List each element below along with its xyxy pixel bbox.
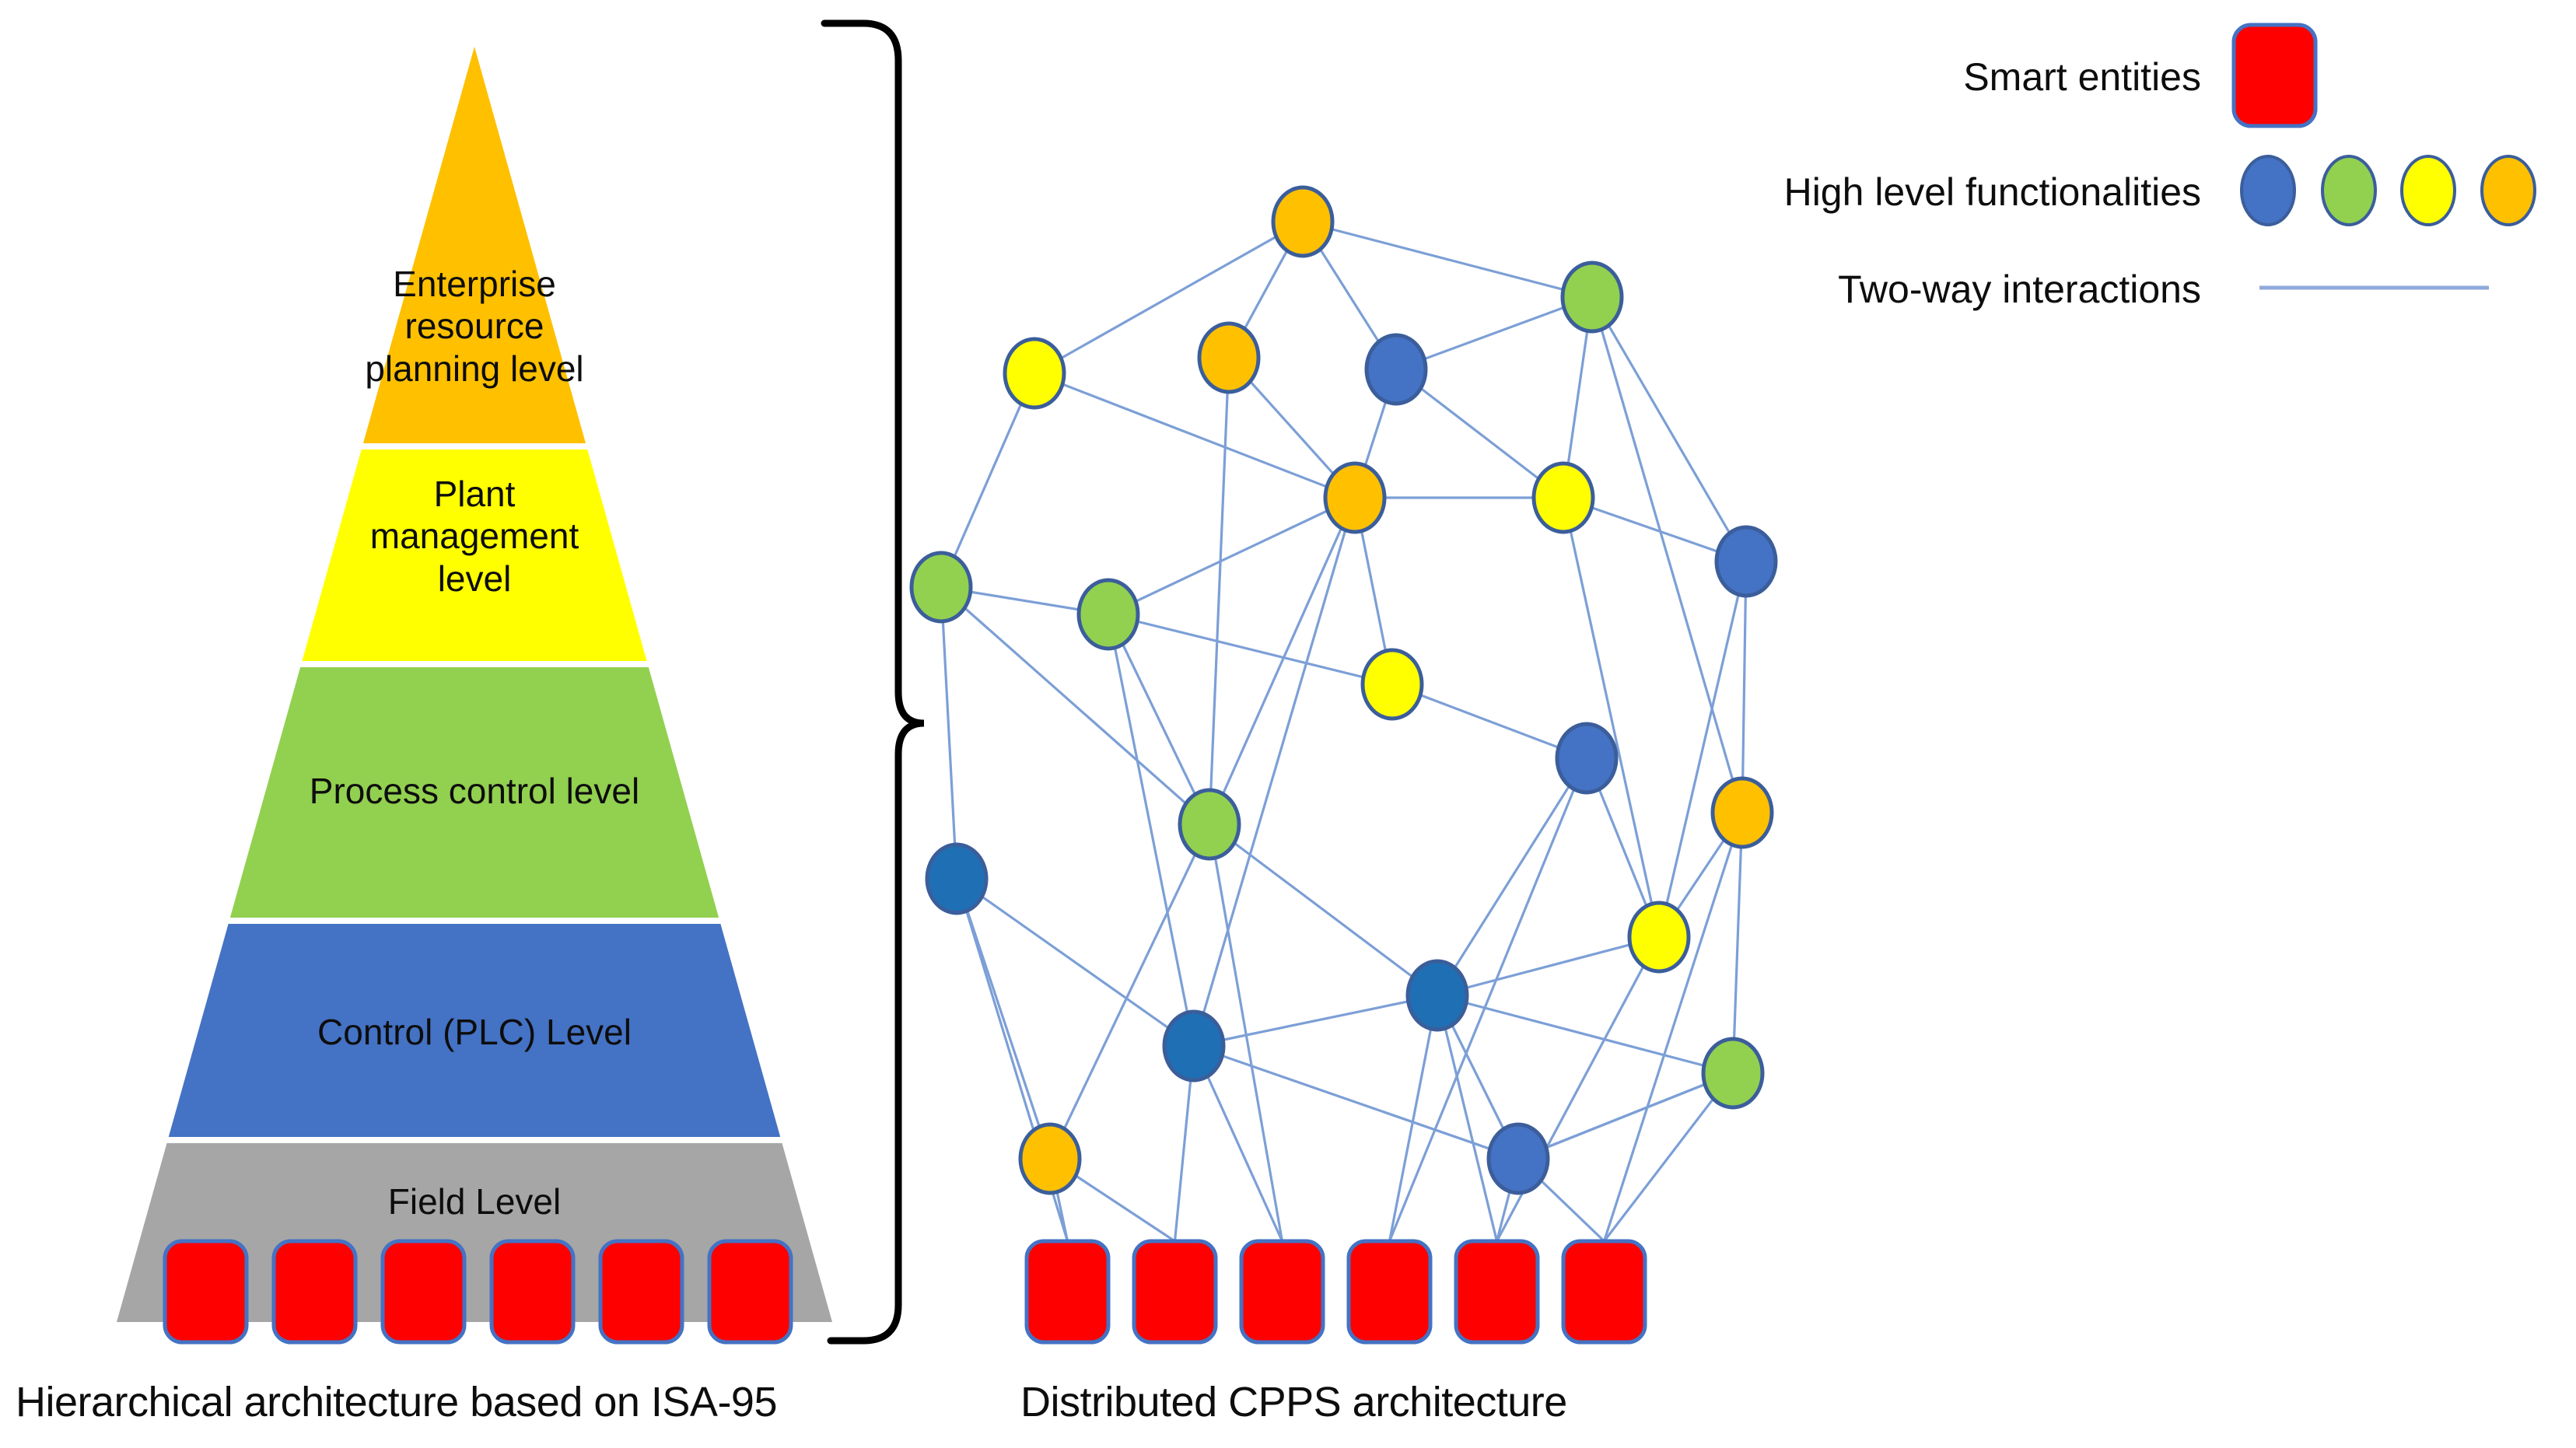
pyramid-label-process-control: Process control level (288, 770, 661, 812)
network-node (1020, 1124, 1080, 1193)
cpps-smart-entity (1456, 1241, 1538, 1342)
scope-brace (824, 23, 924, 1341)
pyramid-label-field: Field Level (342, 1180, 607, 1222)
network-edge (1742, 561, 1746, 813)
field-entity (165, 1241, 247, 1342)
network-node (1199, 324, 1258, 392)
network-edge (1194, 498, 1355, 1046)
network-node (912, 553, 971, 621)
network-node (1629, 903, 1689, 971)
network-edge (1592, 297, 1746, 561)
legend-marks (2234, 25, 2535, 288)
network-edge (1733, 813, 1742, 1073)
network-node (1713, 778, 1772, 847)
network-node (1363, 650, 1422, 719)
network-node (1703, 1039, 1762, 1107)
legend-functionality-swatch-orange (2482, 156, 2535, 225)
network-edge (1194, 995, 1437, 1046)
field-entity (274, 1241, 355, 1342)
legend-smart-entity-swatch (2234, 25, 2315, 126)
network-node (1367, 335, 1426, 404)
network-node (1005, 339, 1064, 407)
network-edge (1437, 758, 1587, 995)
network-edge (1303, 222, 1592, 297)
network-node (1408, 961, 1467, 1030)
network-node (1557, 724, 1616, 792)
cpps-smart-entity (1241, 1241, 1323, 1342)
legend-functionality-swatch-yellow (2402, 156, 2455, 225)
network-edge (1437, 995, 1733, 1073)
network-node (1164, 1012, 1223, 1080)
cpps-smart-entity (1027, 1241, 1108, 1342)
cpps-smart-entities (1027, 1241, 1645, 1342)
network-edge (1209, 824, 1437, 995)
network-node (1325, 463, 1384, 532)
right-caption: Distributed CPPS architecture (1020, 1378, 1567, 1426)
cpps-smart-entity (1134, 1241, 1216, 1342)
pyramid-label-plant-management: Plant management level (342, 473, 607, 600)
network-edge (1497, 937, 1660, 1241)
field-entity (383, 1241, 464, 1342)
cpps-smart-entity (1563, 1241, 1645, 1342)
network-edge (1659, 561, 1746, 937)
legend-label-high-level-functionalities: High level functionalities (1587, 170, 2201, 215)
network-nodes (912, 187, 1776, 1193)
network-edge (941, 587, 1209, 824)
figure-canvas: Enterprise resource planning level Plant… (0, 0, 2576, 1448)
pyramid-label-erp: Enterprise resource planning level (342, 263, 607, 390)
field-entity (600, 1241, 682, 1342)
diagram-svg (0, 0, 2576, 1448)
legend-functionality-swatch-blue (2242, 156, 2294, 225)
legend-label-smart-entities: Smart entities (1587, 54, 2201, 100)
network-edge (1437, 937, 1659, 995)
legend-label-two-way-interactions: Two-way interactions (1587, 267, 2201, 312)
network-node (1180, 790, 1239, 859)
pyramid-bands (78, 0, 879, 1330)
network-node (1273, 187, 1332, 256)
network-node (1717, 527, 1776, 596)
legend-functionality-swatch-green (2322, 156, 2375, 225)
network-edge (1034, 373, 1355, 498)
network-edge (1563, 498, 1659, 937)
field-entity (492, 1241, 573, 1342)
cpps-smart-entity (1349, 1241, 1430, 1342)
network-edge (957, 879, 1194, 1046)
field-entity (709, 1241, 791, 1342)
network-edge (1437, 995, 1497, 1241)
network-edge (1209, 358, 1229, 824)
network-node (1079, 580, 1138, 649)
pyramid-label-control-plc: Control (PLC) Level (288, 1011, 661, 1053)
network-edge (1390, 995, 1438, 1241)
network-edge (1209, 498, 1355, 824)
network-edge (1108, 498, 1355, 614)
network-edge (1050, 824, 1209, 1159)
network-node (1489, 1124, 1548, 1193)
network-edge (1108, 614, 1392, 684)
network-edge (941, 587, 957, 879)
left-caption: Hierarchical architecture based on ISA-9… (16, 1378, 777, 1426)
network-node (927, 845, 986, 913)
network-node (1534, 463, 1593, 532)
